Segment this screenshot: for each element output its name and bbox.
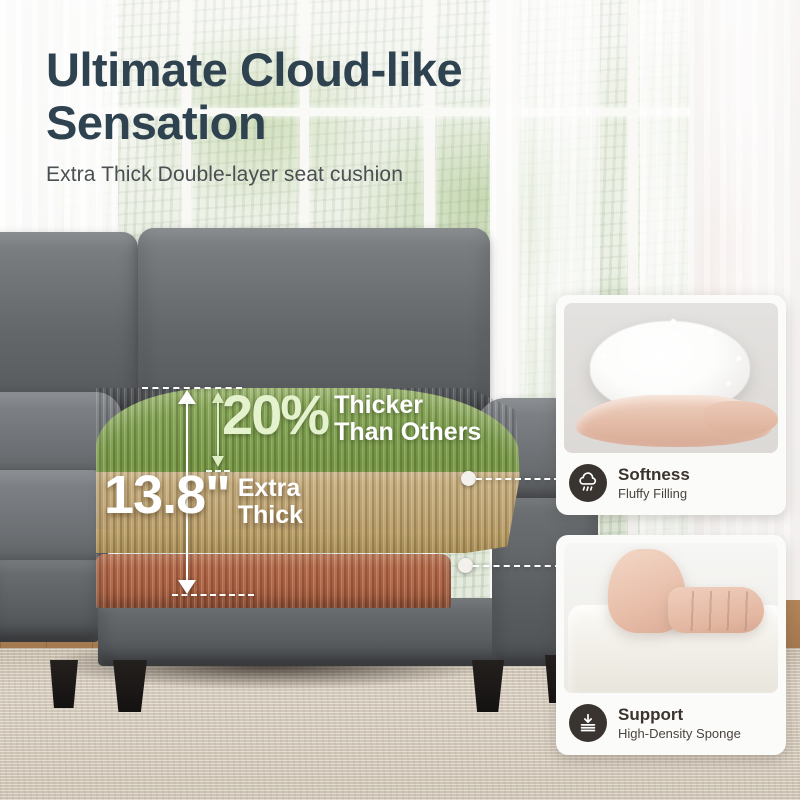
- support-title: Support: [618, 705, 741, 725]
- sofa-back-cushion-left: [0, 232, 138, 414]
- softness-subtitle: Fluffy Filling: [618, 486, 690, 501]
- feature-card-softness[interactable]: Softness Fluffy Filling: [556, 295, 786, 515]
- percent-callout: 20% Thicker Than Others: [222, 388, 481, 445]
- measure-arrowhead-bottom: [178, 580, 196, 594]
- thickness-description: Extra Thick: [238, 475, 303, 528]
- hand-image: [576, 395, 772, 447]
- measure-guide-bottom: [172, 594, 254, 596]
- page-title: Ultimate Cloud-like Sensation: [46, 44, 566, 149]
- sofa-base-center: [98, 598, 526, 666]
- thickness-line-1: Extra: [238, 475, 303, 502]
- feature-card-support[interactable]: Support High-Density Sponge: [556, 535, 786, 755]
- percent-number: 20%: [222, 388, 328, 442]
- press-down-layers-icon: [569, 704, 607, 742]
- percent-description: Thicker Than Others: [334, 392, 481, 445]
- support-photo: [564, 543, 778, 693]
- connector-dot-softness: [461, 471, 476, 486]
- percent-line-2: Than Others: [334, 419, 481, 446]
- support-subtitle: High-Density Sponge: [618, 726, 741, 741]
- connector-line-softness: [476, 478, 560, 480]
- percent-arrow-shaft: [217, 401, 219, 461]
- cushion-layer-rust: [96, 554, 451, 608]
- sofa-leg: [50, 660, 78, 708]
- cloud-rain-icon: [569, 464, 607, 502]
- thickness-callout: 13.8" Extra Thick: [104, 470, 303, 528]
- sofa-seat-cushion-left: [0, 470, 108, 574]
- softness-title: Softness: [618, 465, 690, 485]
- page-subtitle: Extra Thick Double-layer seat cushion: [46, 163, 566, 187]
- percent-line-1: Thicker: [334, 392, 481, 419]
- connector-dot-support: [458, 558, 473, 573]
- thickness-line-2: Thick: [238, 502, 303, 529]
- cushion-layer-tan-lower: [96, 529, 520, 553]
- softness-photo: [564, 303, 778, 453]
- sofa-base-left: [0, 560, 100, 642]
- connector-line-support: [473, 565, 561, 567]
- product-feature-graphic: 20% Thicker Than Others 13.8" Extra Thic…: [0, 0, 800, 800]
- thickness-number: 13.8": [104, 470, 230, 522]
- hand-fingers-image: [668, 587, 764, 633]
